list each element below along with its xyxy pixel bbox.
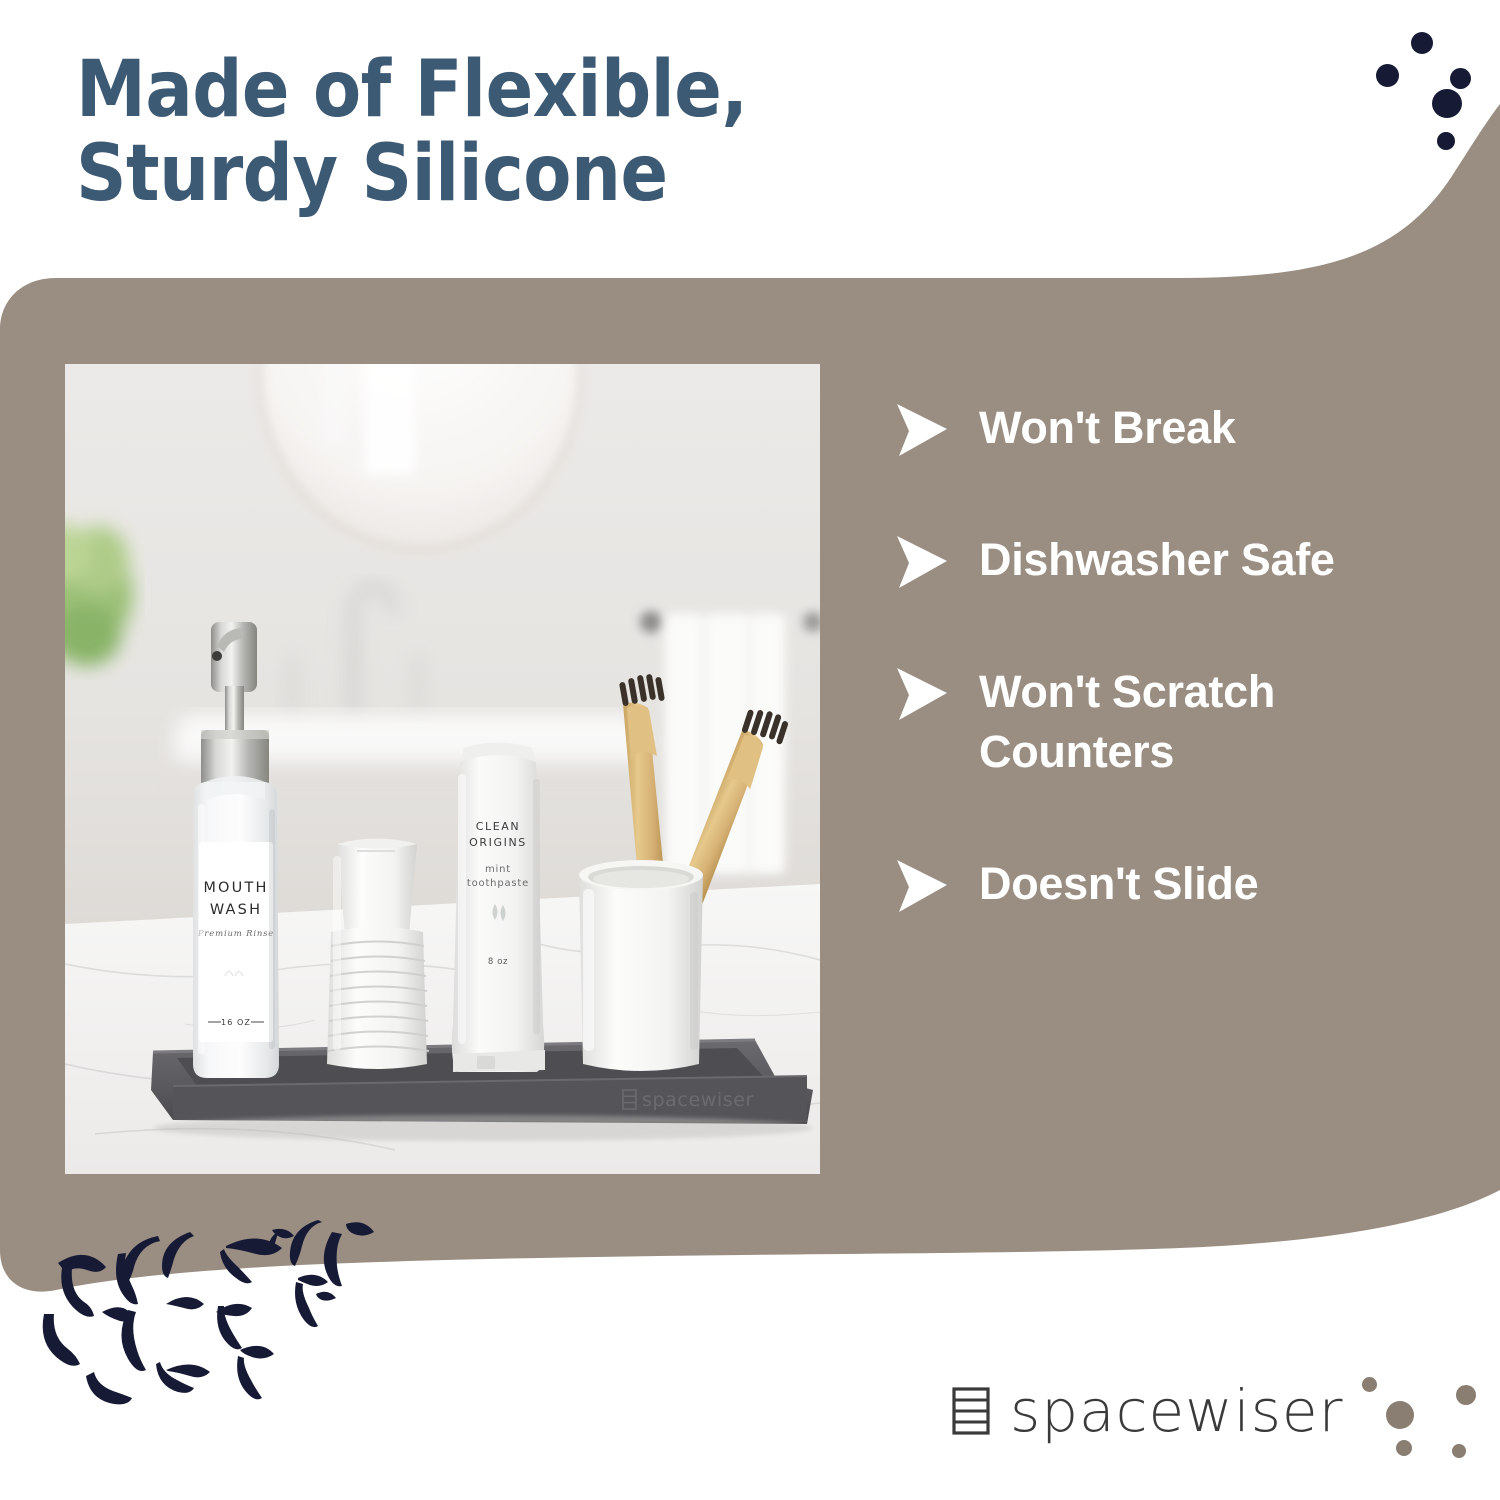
feature-item: Doesn't Slide <box>893 854 1393 914</box>
decorative-dot-icon <box>1396 1440 1412 1456</box>
svg-text:CLEAN: CLEAN <box>476 820 521 833</box>
feature-label: Won't Scratch Counters <box>979 662 1393 782</box>
svg-text:16 OZ: 16 OZ <box>221 1018 251 1027</box>
feature-list: Won't Break Dishwasher Safe Won't Scratc… <box>893 398 1393 914</box>
decorative-dot-icon <box>1437 132 1455 150</box>
feature-item: Dishwasher Safe <box>893 530 1393 590</box>
feature-label: Doesn't Slide <box>979 854 1258 914</box>
svg-text:spacewiser: spacewiser <box>642 1089 754 1111</box>
brush-stroke-cluster-icon <box>40 1218 390 1408</box>
svg-text:ORIGINS: ORIGINS <box>469 836 527 849</box>
svg-text:MOUTH: MOUTH <box>203 880 268 896</box>
feature-label: Won't Break <box>979 398 1236 458</box>
svg-text:toothpaste: toothpaste <box>467 878 529 889</box>
svg-text:mint: mint <box>485 864 511 875</box>
decorative-dot-icon <box>1450 68 1471 89</box>
svg-text:8 oz: 8 oz <box>488 957 508 967</box>
decorative-dot-icon <box>1432 89 1462 118</box>
decorative-dot-icon <box>1411 32 1433 54</box>
svg-text:Premium Rinse: Premium Rinse <box>197 929 274 939</box>
arrow-right-icon <box>893 402 951 458</box>
feature-item: Won't Break <box>893 398 1393 458</box>
feature-item: Won't Scratch Counters <box>893 662 1393 782</box>
brand-logo: spacewiser <box>952 1382 1343 1440</box>
decorative-dot-icon <box>1452 1444 1466 1458</box>
decorative-dot-icon <box>1386 1401 1414 1429</box>
arrow-right-icon <box>893 666 951 722</box>
arrow-right-icon <box>893 858 951 914</box>
arrow-right-icon <box>893 534 951 590</box>
headline-line-1: Made of Flexible, <box>76 45 748 135</box>
page-headline: Made of Flexible, Sturdy Silicone <box>76 48 896 216</box>
feature-label: Dishwasher Safe <box>979 530 1335 590</box>
decorative-dot-icon <box>1376 64 1399 87</box>
decorative-dot-icon <box>1456 1385 1476 1405</box>
svg-text:WASH: WASH <box>210 902 262 918</box>
infographic-canvas: Made of Flexible, Sturdy Silicone <box>0 0 1500 1500</box>
shelf-ladder-icon <box>952 1387 990 1435</box>
headline-line-2: Sturdy Silicone <box>76 132 896 216</box>
decorative-dot-icon <box>1362 1377 1377 1392</box>
product-photo: spacewiser MOU <box>65 364 820 1174</box>
brand-name: spacewiser <box>1010 1382 1343 1440</box>
